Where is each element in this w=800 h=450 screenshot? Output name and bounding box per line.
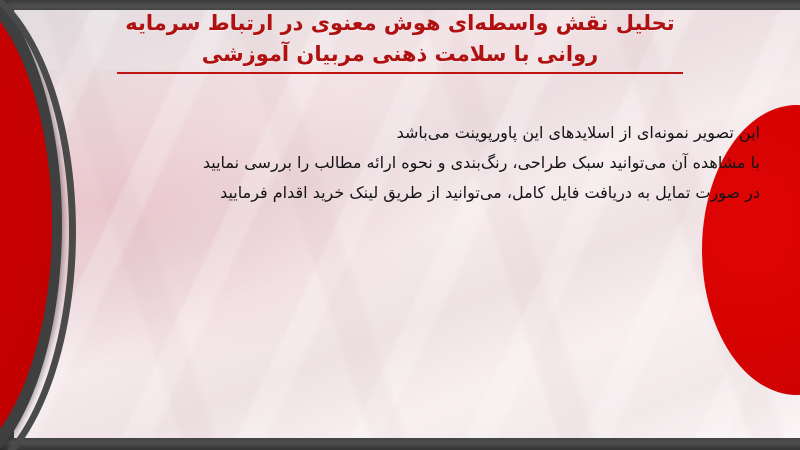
- slide-title-line-1: تحلیل نقش واسطه‌ای هوش معنوی در ارتباط س…: [26, 8, 774, 39]
- body-line-2: با مشاهده آن می‌توانید سبک طراحی، رنگ‌بن…: [150, 148, 760, 178]
- slide-title: تحلیل نقش واسطه‌ای هوش معنوی در ارتباط س…: [0, 8, 800, 74]
- presentation-slide: تحلیل نقش واسطه‌ای هوش معنوی در ارتباط س…: [0, 0, 800, 450]
- slide-body-text: این تصویر نمونه‌ای از اسلایدهای این پاور…: [150, 118, 760, 208]
- slide-title-line-2: روانی با سلامت ذهنی مربیان آموزشی: [26, 39, 774, 70]
- body-line-3: در صورت تمایل به دریافت فایل کامل، می‌تو…: [150, 178, 760, 208]
- body-line-1: این تصویر نمونه‌ای از اسلایدهای این پاور…: [150, 118, 760, 148]
- slide-frame-bottom: [0, 436, 800, 450]
- background-rose-wash: [14, 70, 434, 370]
- slide-content-panel: [14, 10, 800, 438]
- background-diagonal-streaks-secondary: [14, 10, 800, 438]
- background-diagonal-streaks: [14, 10, 800, 438]
- title-underline-rule: [117, 72, 683, 74]
